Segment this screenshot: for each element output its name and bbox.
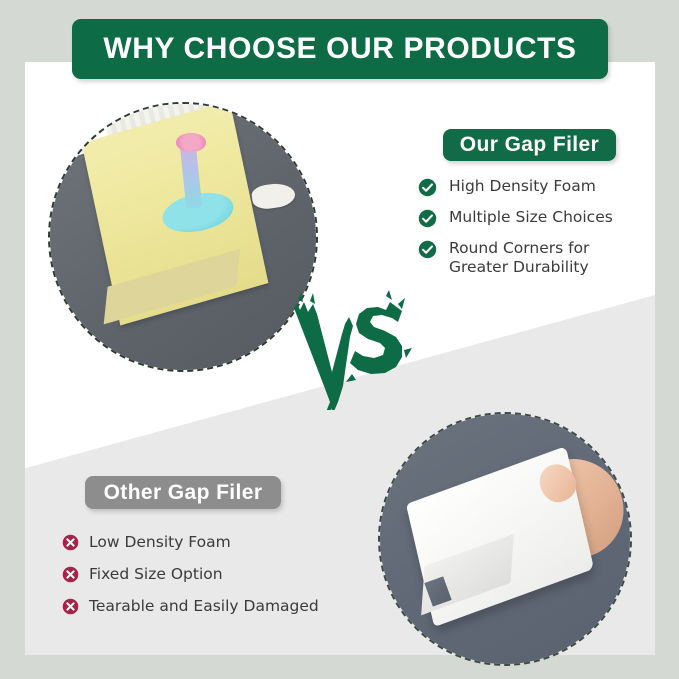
list-item: Fixed Size Option (62, 565, 362, 584)
other-product-photo (378, 412, 632, 666)
check-circle-icon (418, 209, 437, 228)
header-banner: WHY CHOOSE OUR PRODUCTS (72, 19, 608, 79)
our-feature-label: Multiple Size Choices (449, 208, 613, 227)
x-circle-icon (62, 598, 79, 615)
other-feature-label: Low Density Foam (89, 533, 231, 552)
list-item: Low Density Foam (62, 533, 362, 552)
list-item: Round Corners for Greater Durability (418, 239, 628, 277)
our-feature-label: Round Corners for Greater Durability (449, 239, 628, 277)
our-gap-filler-badge: Our Gap Filer (443, 129, 616, 161)
other-feature-label: Fixed Size Option (89, 565, 223, 584)
our-gap-filler-badge-label: Our Gap Filer (460, 133, 599, 157)
infographic-poster: WHY CHOOSE OUR PRODUCTS (0, 0, 679, 679)
toy-top-graphic (176, 133, 205, 152)
other-product-photo-scene (380, 414, 630, 664)
other-gap-filler-badge: Other Gap Filer (85, 476, 281, 509)
x-circle-icon (62, 534, 79, 551)
other-feature-list: Low Density Foam Fixed Size Option Teara… (62, 533, 362, 629)
our-product-photo-scene (50, 104, 316, 370)
versus-mark (286, 290, 416, 410)
other-feature-label: Tearable and Easily Damaged (89, 597, 319, 616)
list-item: High Density Foam (418, 177, 628, 197)
other-gap-filler-badge-label: Other Gap Filer (104, 481, 263, 505)
page-title: WHY CHOOSE OUR PRODUCTS (103, 32, 576, 66)
list-item: Tearable and Easily Damaged (62, 597, 362, 616)
x-circle-icon (62, 566, 79, 583)
our-feature-list: High Density Foam Multiple Size Choices … (418, 177, 628, 288)
check-circle-icon (418, 178, 437, 197)
list-item: Multiple Size Choices (418, 208, 628, 228)
our-feature-label: High Density Foam (449, 177, 596, 196)
our-product-photo (48, 102, 318, 372)
check-circle-icon (418, 240, 437, 259)
